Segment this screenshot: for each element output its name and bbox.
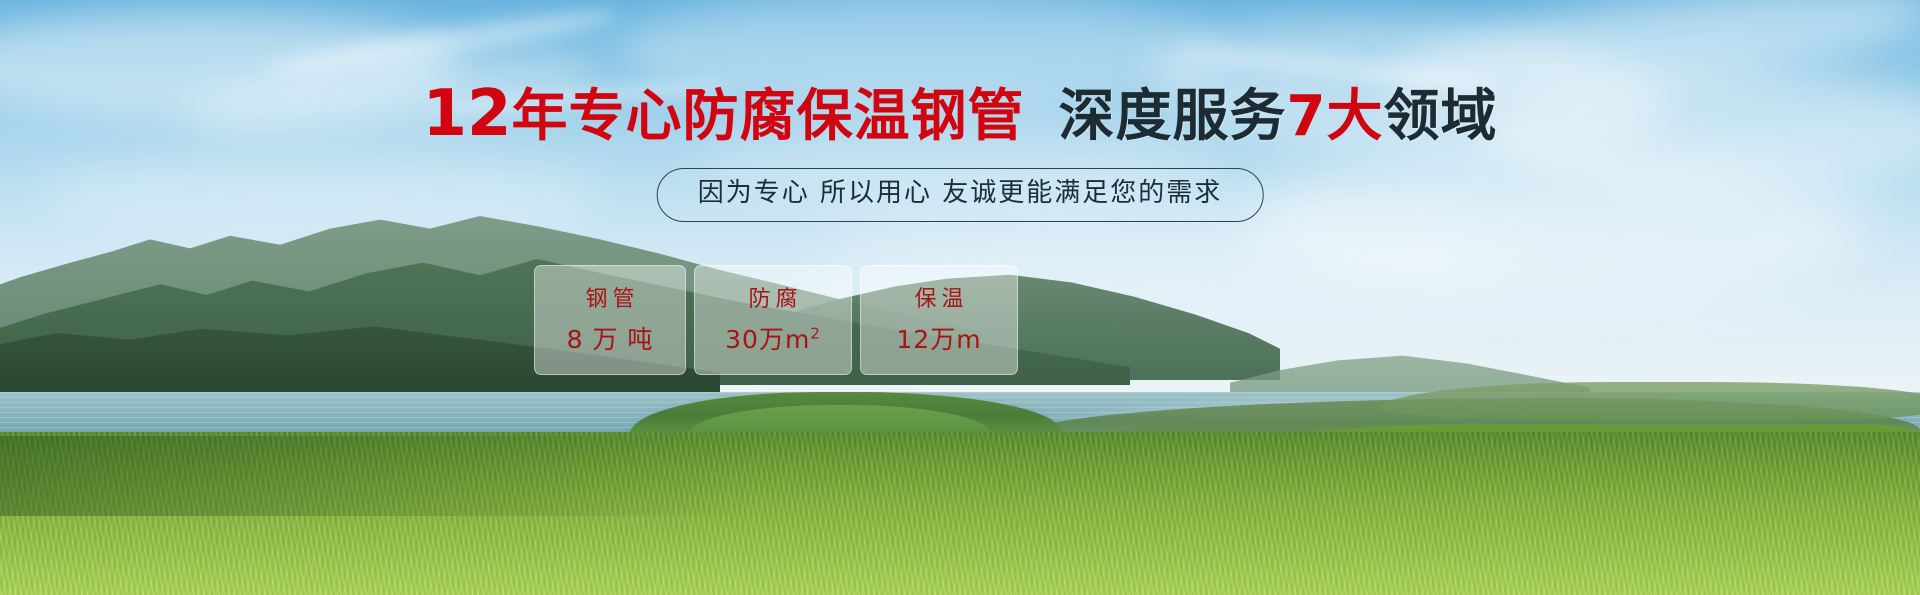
subtitle-text: 因为专心 所以用心 友诚更能满足您的需求 xyxy=(698,178,1223,208)
stat-card-value-base: 12万m xyxy=(896,325,981,354)
stat-card-group: 钢管 8 万 吨 防腐 30万m2 保温 12万m xyxy=(534,265,1018,375)
stat-card-anticorrosion[interactable]: 防腐 30万m2 xyxy=(694,265,852,375)
stat-card-value: 30万m2 xyxy=(725,327,821,352)
stat-card-value-exponent: 2 xyxy=(810,324,821,342)
headline-part3: 领域 xyxy=(1384,84,1498,149)
stat-card-steel-pipe[interactable]: 钢管 8 万 吨 xyxy=(534,265,686,375)
hero-banner: 12年专心防腐保温钢管深度服务7大领域 因为专心 所以用心 友诚更能满足您的需求… xyxy=(0,0,1920,595)
stat-card-label: 保温 xyxy=(909,289,968,311)
headline-part1-red: 年专心防腐保温钢管 xyxy=(512,84,1025,149)
stat-card-label: 防腐 xyxy=(743,289,802,311)
stat-card-value: 12万m xyxy=(896,327,981,352)
stat-card-value: 8 万 吨 xyxy=(567,327,654,352)
stat-card-label: 钢管 xyxy=(580,289,639,311)
headline-part2: 深度服务 xyxy=(1059,84,1287,149)
headline: 12年专心防腐保温钢管深度服务7大领域 xyxy=(0,82,1920,146)
stat-card-insulation[interactable]: 保温 12万m xyxy=(860,265,1018,375)
headline-highlight: 7大 xyxy=(1287,84,1384,149)
banner-content: 12年专心防腐保温钢管深度服务7大领域 因为专心 所以用心 友诚更能满足您的需求… xyxy=(0,0,1920,595)
subtitle-pill: 因为专心 所以用心 友诚更能满足您的需求 xyxy=(657,168,1264,222)
headline-number: 12 xyxy=(422,77,511,151)
stat-card-value-base: 30万m xyxy=(725,325,810,354)
